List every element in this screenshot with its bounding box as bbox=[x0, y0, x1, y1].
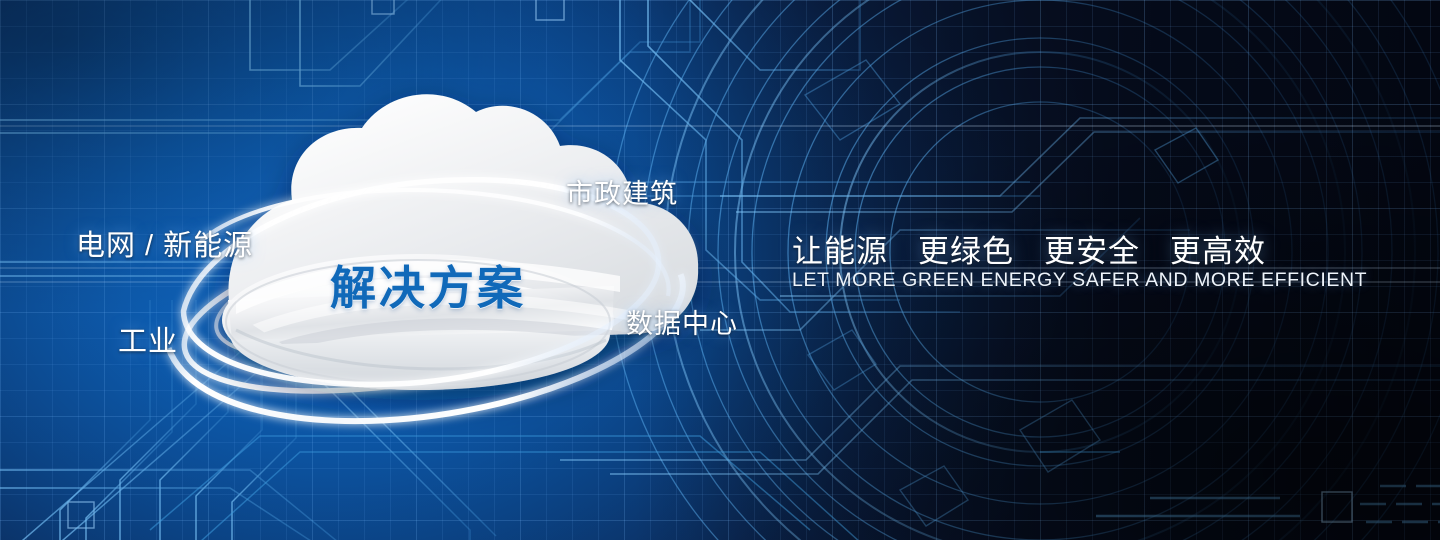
cloud-body bbox=[222, 94, 698, 390]
headline-subtitle: LET MORE GREEN ENERGY SAFER AND MORE EFF… bbox=[792, 269, 1367, 292]
label-data-center: 数据中心 bbox=[626, 302, 738, 341]
solution-banner: 电网 / 新能源 工业 市政建筑 数据中心 解决方案 让能源更绿色更安全更高效 … bbox=[0, 0, 1440, 540]
cloud-solution-title: 解决方案 bbox=[330, 252, 526, 318]
label-municipal-building: 市政建筑 bbox=[566, 172, 678, 211]
headline-part-3: 更安全 bbox=[1044, 234, 1140, 269]
headline: 让能源更绿色更安全更高效 bbox=[792, 226, 1266, 271]
headline-part-1: 让能源 bbox=[792, 234, 888, 269]
label-grid-new-energy: 电网 / 新能源 bbox=[76, 222, 253, 264]
headline-part-2: 更绿色 bbox=[918, 234, 1014, 269]
headline-part-4: 更高效 bbox=[1170, 234, 1266, 269]
label-industry: 工业 bbox=[118, 318, 178, 360]
